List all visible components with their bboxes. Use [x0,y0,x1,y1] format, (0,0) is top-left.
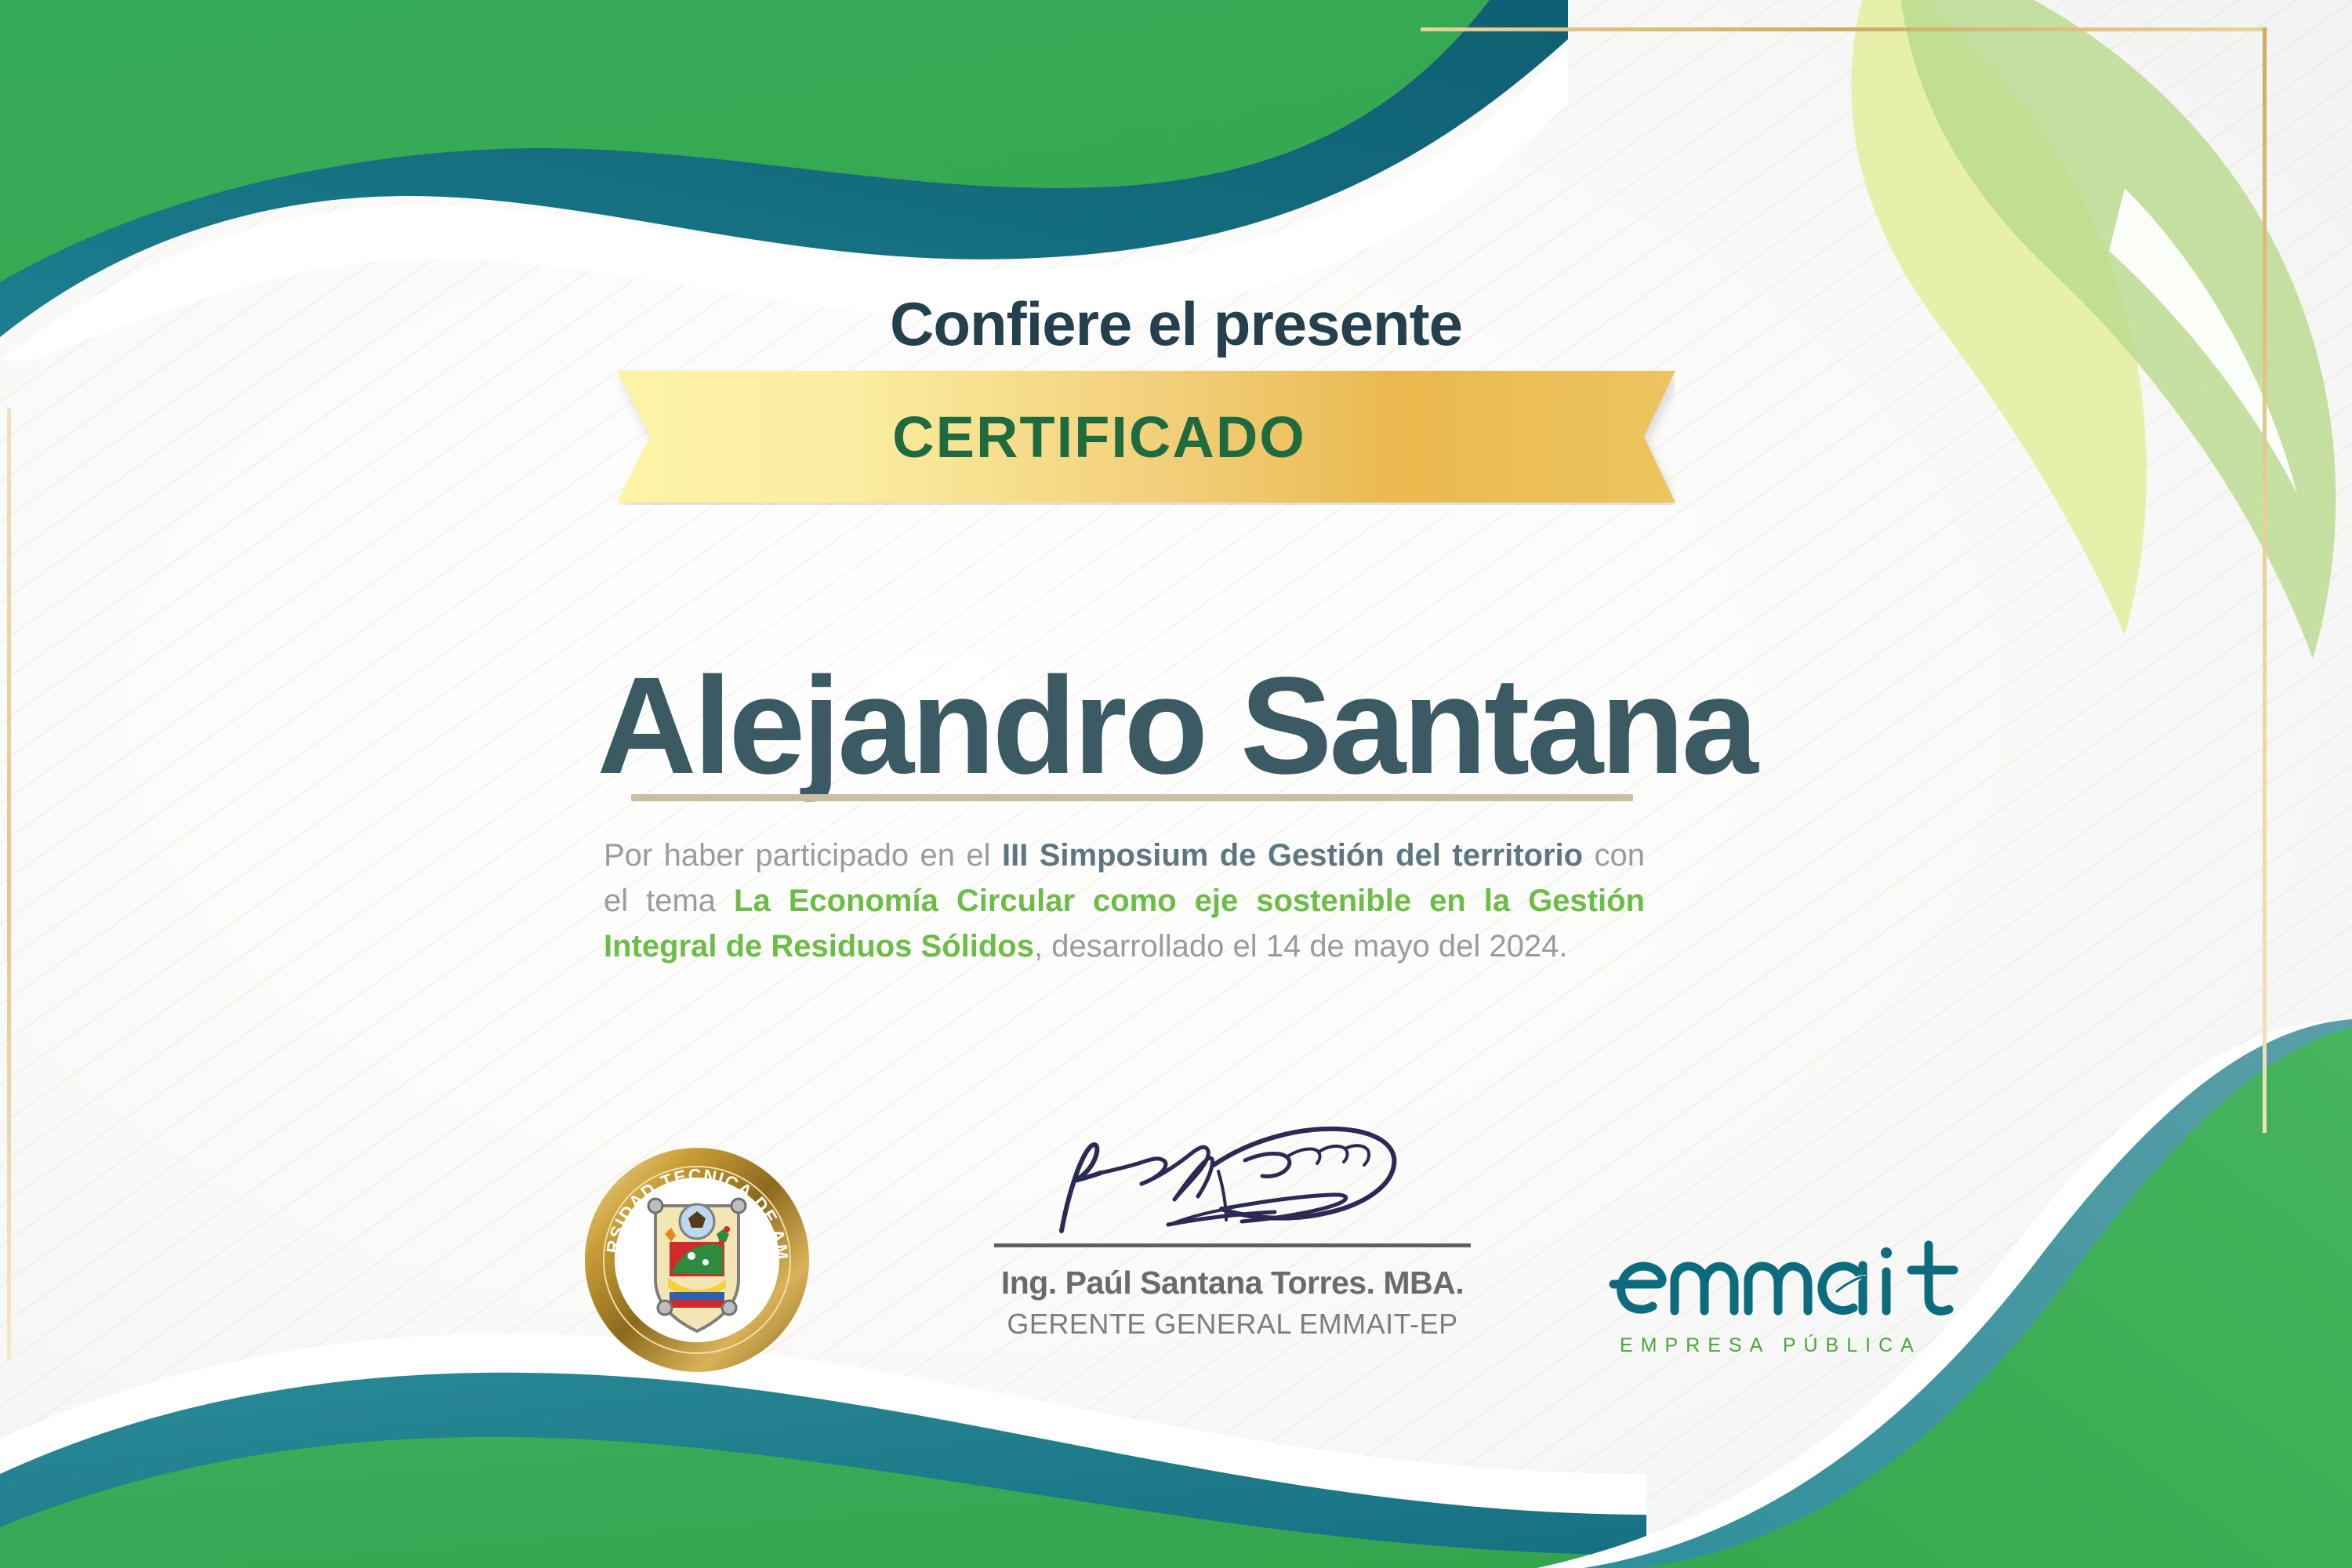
certificate-ribbon: CERTIFICADO [617,368,1675,505]
ribbon-label: CERTIFICADO [617,368,1675,505]
emmait-tagline: EMPRESA PÚBLICA [1620,1334,1922,1356]
body-part-1: Por haber participado en el [604,838,1002,873]
gold-border-left [7,408,11,1360]
page-title: Confiere el presente [0,289,2352,360]
signature-block: Ing. Paúl Santana Torres. MBA. GERENTE G… [978,1121,1487,1341]
recipient-name: Alejandro Santana [0,657,2352,795]
body-event-name: III Simposium de Gestión del territorio [1002,838,1583,873]
gold-border-top [1421,27,2267,31]
body-part-3: , desarrollado el 14 de mayo del 2024. [1034,929,1567,964]
certificate-page: Confiere el presente CERT [0,0,2352,1568]
certificate-body-text: Por haber participado en el III Simposiu… [604,833,1645,969]
handwritten-signature-icon [978,1121,1487,1239]
certificate-content: Confiere el presente CERT [0,0,2352,1568]
emmait-logo-icon: EMPRESA PÚBLICA [1599,1217,2007,1362]
signature-line [994,1243,1471,1247]
signatory-name: Ing. Paúl Santana Torres. MBA. [978,1265,1487,1301]
recipient-name-underline [631,794,1633,801]
signatory-role: GERENTE GENERAL EMMAIT-EP [978,1308,1487,1341]
uta-university-seal-icon: UNIVERSIDAD TECNICA DE AMBATO UTA [583,1146,811,1374]
gold-border-right [2263,27,2267,1133]
